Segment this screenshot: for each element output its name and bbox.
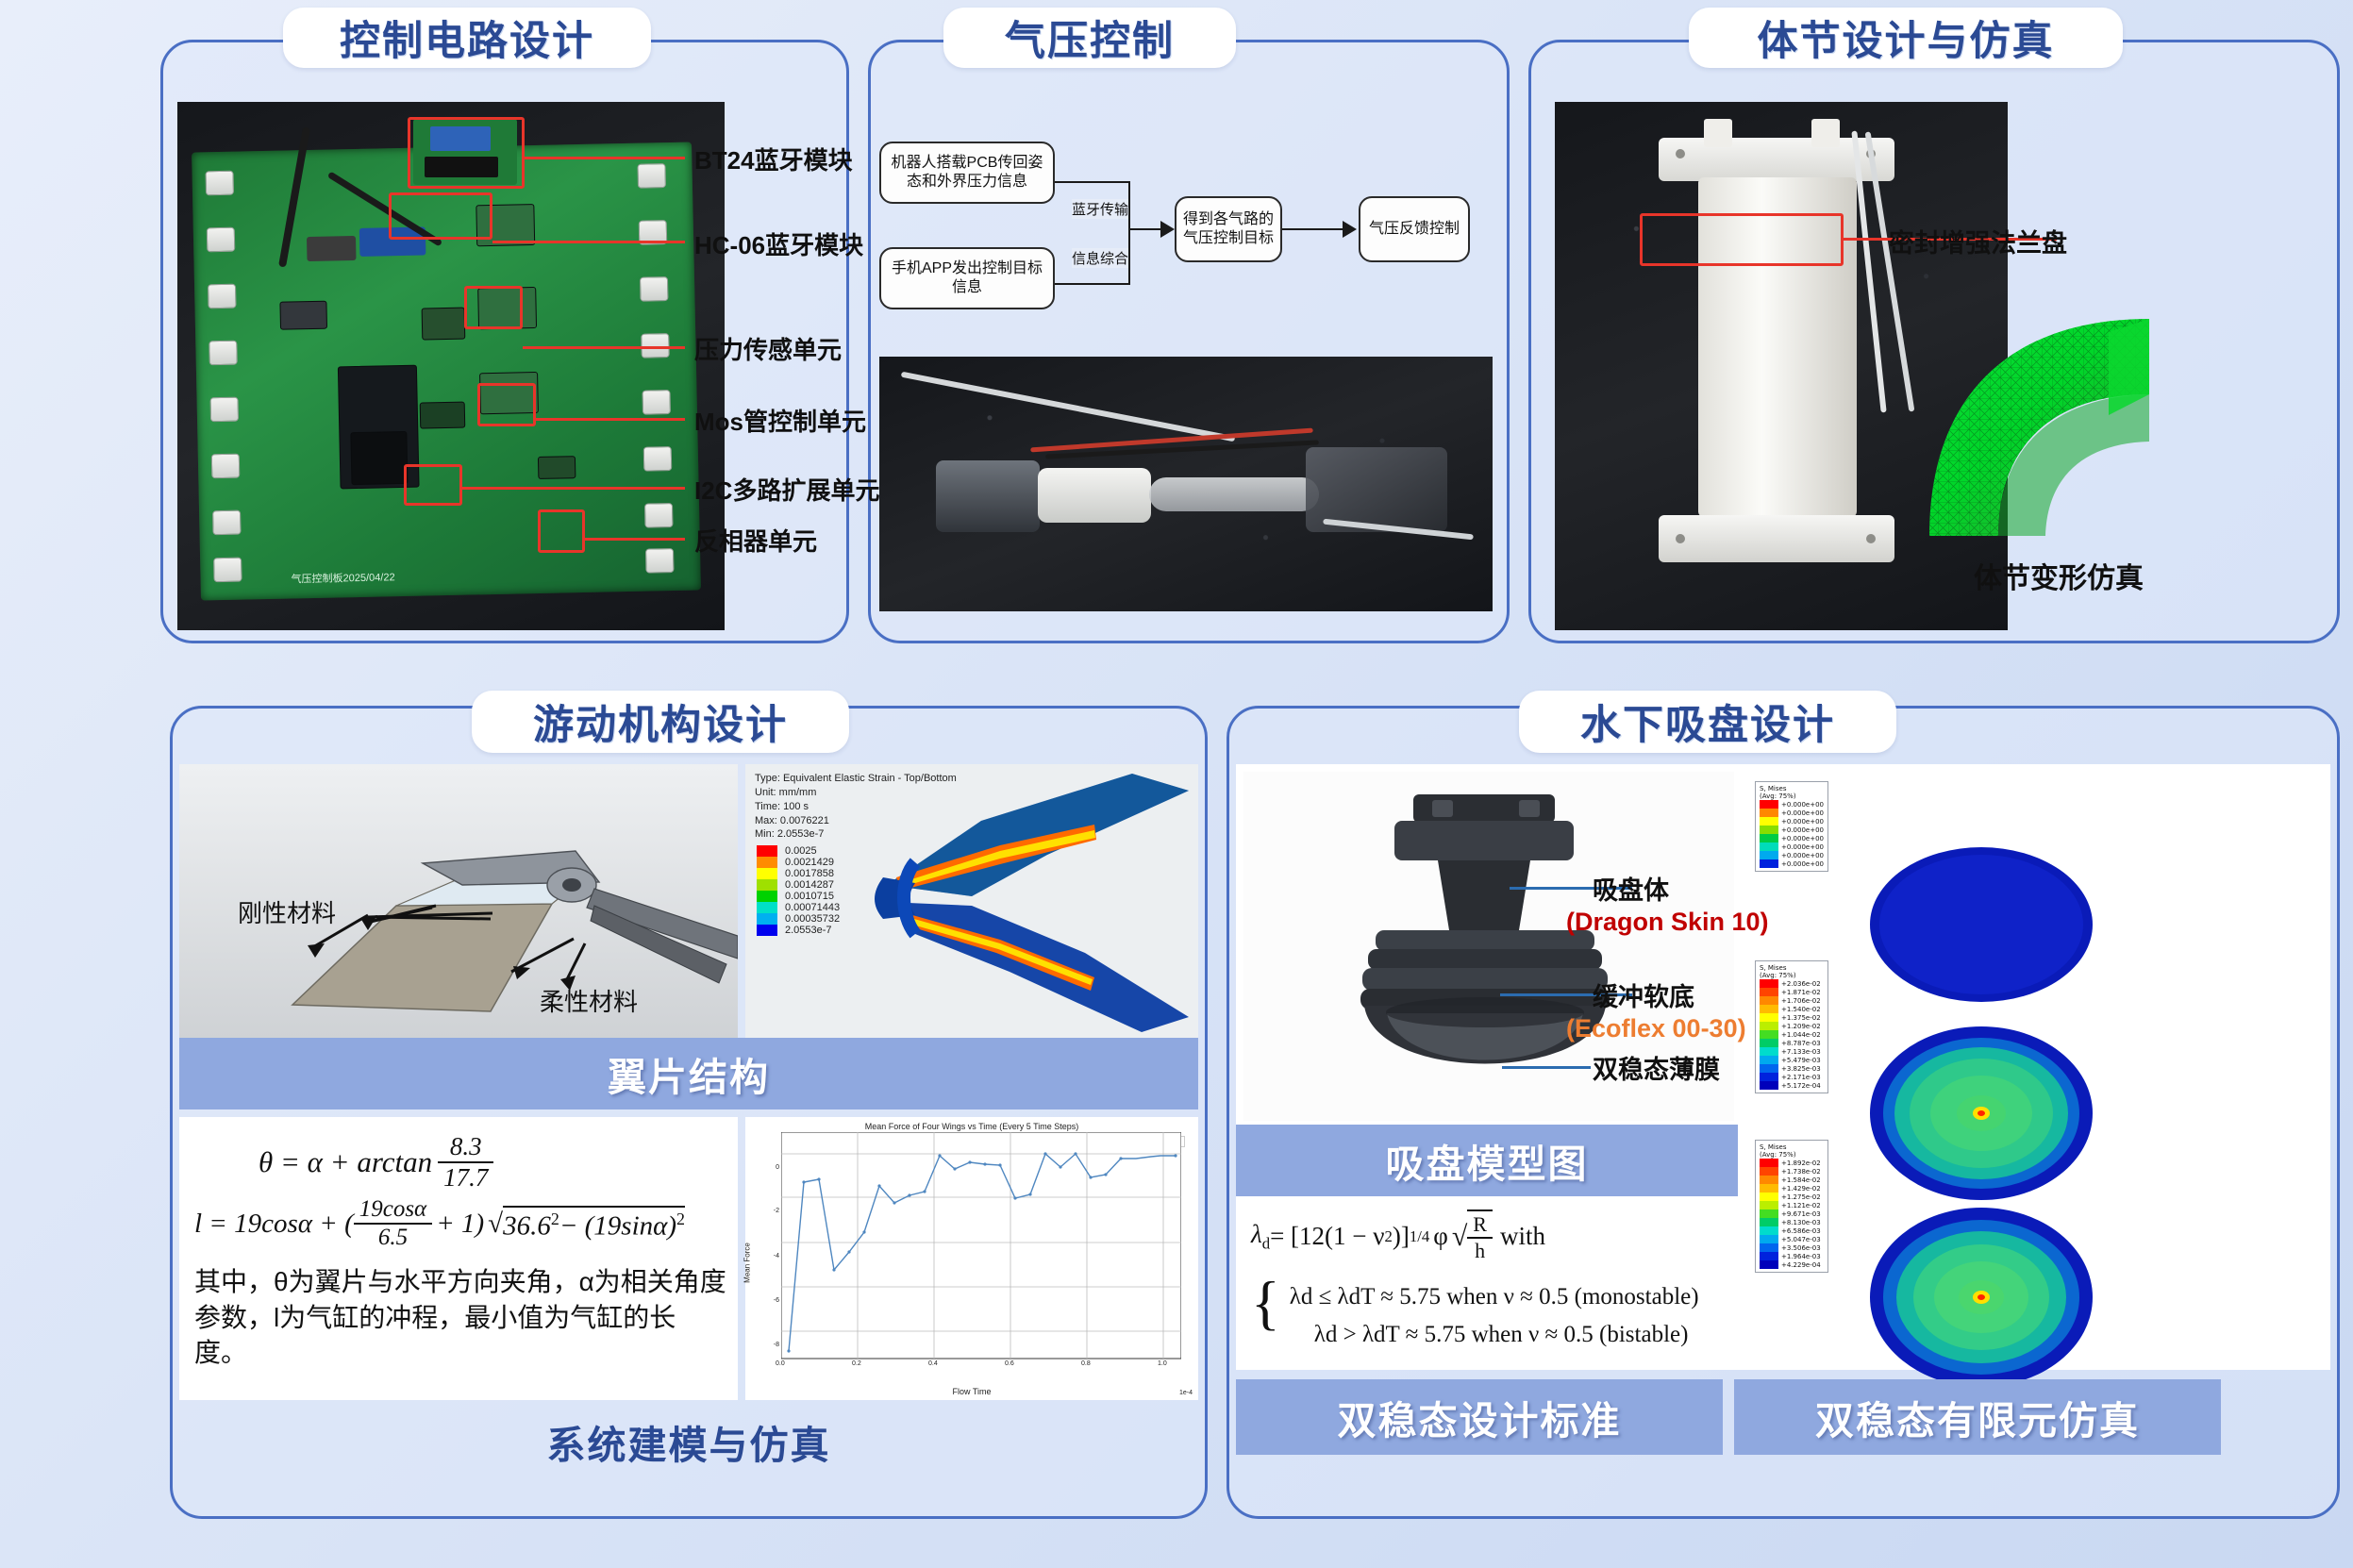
highlight-box-bt24 (408, 117, 525, 189)
fea-colorbar: 0.0025 0.0021429 0.0017858 0.0014287 0.0… (757, 845, 840, 936)
flow-line-v1 (1055, 181, 1130, 183)
bistable-formula-cases: { λd ≤ λdT ≈ 5.75 when ν ≈ 0.5 (monostab… (1251, 1278, 1742, 1348)
caption-segment-deformation: 体节变形仿真 (1974, 555, 2144, 596)
formula-note: 其中，θ为翼片与水平方向夹角，α为相关角度参数，l为气缸的冲程，最小值为气缸的长… (194, 1264, 728, 1371)
cad-label-rigid: 刚性材料 (238, 894, 336, 929)
leader-line-inverter (585, 538, 685, 541)
panel-title-control-circuit: 控制电路设计 (283, 8, 651, 68)
flow-node-app-target: 手机APP发出控制目标信息 (879, 247, 1055, 309)
label-sucker-body-material: (Dragon Skin 10) (1566, 908, 1769, 937)
flow-node-pressure-target: 得到各气路的气压控制目标 (1175, 196, 1282, 262)
leader-line-mos (536, 418, 685, 421)
mean-force-chart: Mean Force of Four Wings vs Time (Every … (745, 1117, 1198, 1400)
bistable-fem-contour-3 (1863, 1198, 2099, 1396)
bistable-fem-contour-2 (1863, 1014, 2099, 1212)
chart-ylabel: Mean Force (743, 1243, 752, 1283)
flow-node-robot-feedback: 机器人搭载PCB传回姿态和外界压力信息 (879, 142, 1055, 204)
flow-arrow-2 (1343, 221, 1357, 238)
annotation-hc06: HC-06蓝牙模块 (694, 226, 863, 261)
flow-line-v4 (1282, 228, 1344, 230)
highlight-box-flange (1640, 213, 1844, 266)
highlight-box-mos (477, 383, 536, 426)
bistable-formula-line1: λd = [12(1 − ν2 )]1/4 φ √ R h with (1251, 1209, 1742, 1263)
label-sucker-body: 吸盘体 (1593, 870, 1669, 907)
caption-bistable-criteria: 双稳态设计标准 (1236, 1379, 1723, 1455)
panel-title-swimming-mechanism: 游动机构设计 (472, 691, 849, 753)
caption-sucker-model: 吸盘模型图 (1236, 1125, 1738, 1196)
wing-fea-plot (859, 764, 1198, 1038)
chart-title: Mean Force of Four Wings vs Time (Every … (745, 1122, 1198, 1131)
annotation-mos: Mos管控制单元 (694, 403, 866, 438)
annotation-flange: 密封增强法兰盘 (1889, 223, 2067, 259)
leader-line-hc06 (492, 241, 685, 243)
leader-line-bistable-membrane (1502, 1066, 1591, 1069)
chart-plot-area (781, 1132, 1181, 1376)
highlight-box-inverter (538, 509, 585, 553)
highlight-box-i2c (404, 464, 462, 506)
bistable-fem-contour-1 (1863, 830, 2099, 1019)
cad-label-flexible: 柔性材料 (540, 983, 638, 1018)
annotation-inverter: 反相器单元 (694, 523, 817, 558)
leader-line-bt24 (525, 157, 685, 159)
flow-line-v2 (1128, 181, 1130, 285)
highlight-box-pressure-sensor (464, 286, 523, 329)
caption-system-modeling: 系统建模与仿真 (179, 1404, 1198, 1479)
chart-xlabel: Flow Time (745, 1387, 1198, 1396)
fea-legend-3: S, Mises (Avg: 75%) +1.892e-02 +1.738e-0… (1755, 1140, 1828, 1273)
formula-theta: θ = α + arctan 8.3 17.7 (259, 1132, 493, 1193)
label-soft-base-material: (Ecoflex 00-30) (1566, 1014, 1746, 1043)
flow-node-feedback-control: 气压反馈控制 (1359, 196, 1470, 262)
chart-x-exponent: 1e-4 (1179, 1390, 1193, 1396)
segment-fem-mesh (1896, 274, 2255, 557)
label-soft-base: 缓冲软底 (1593, 976, 1694, 1013)
flow-edge-label-bluetooth: 蓝牙传输 (1072, 199, 1128, 219)
fea-legend-2: S, Mises (Avg: 75%) +2.036e-02 +1.871e-0… (1755, 960, 1828, 1093)
highlight-box-hc06 (389, 192, 492, 240)
annotation-i2c: I2C多路扩展单元 (694, 472, 879, 507)
panel-title-segment-design: 体节设计与仿真 (1689, 8, 2123, 68)
wing-fea-view: Type: Equivalent Elastic Strain - Top/Bo… (745, 764, 1198, 1038)
panel-title-underwater-sucker: 水下吸盘设计 (1519, 691, 1896, 753)
leader-line-pressure-sensor (523, 346, 685, 349)
bistable-formula: λd = [12(1 − ν2 )]1/4 φ √ R h with { λd … (1251, 1209, 1742, 1348)
annotation-pressure-sensor: 压力传感单元 (694, 331, 842, 366)
pcb-silkscreen: 气压控制板2025/04/22 (291, 569, 394, 586)
wing-cad-view: 刚性材料 柔性材料 (179, 764, 738, 1038)
flow-arrow-1 (1160, 221, 1175, 238)
label-bistable-membrane: 双稳态薄膜 (1593, 1049, 1720, 1086)
caption-wing-structure: 翼片结构 (179, 1038, 1198, 1109)
annotation-bt24: BT24蓝牙模块 (694, 142, 853, 176)
leader-line-i2c (462, 487, 685, 490)
flow-edge-label-fusion: 信息综合 (1072, 248, 1128, 268)
caption-bistable-fem: 双稳态有限元仿真 (1734, 1379, 2221, 1455)
chart-ytick-labels: 0 -2 -4 -6 -8 (760, 1132, 779, 1359)
fea-legend-1: S, Mises (Avg: 75%) +0.000e+00 +0.000e+0… (1755, 781, 1828, 872)
swimming-formula-card: θ = α + arctan 8.3 17.7 l = 19cosα + ( 1… (179, 1117, 738, 1400)
panel-title-pressure-control: 气压控制 (943, 8, 1236, 68)
pump-assembly-photo (879, 357, 1493, 611)
flow-line-v3 (1055, 283, 1130, 285)
formula-stroke: l = 19cosα + ( 19cosα 6.5 + 1) √ 36.62− … (194, 1196, 685, 1251)
